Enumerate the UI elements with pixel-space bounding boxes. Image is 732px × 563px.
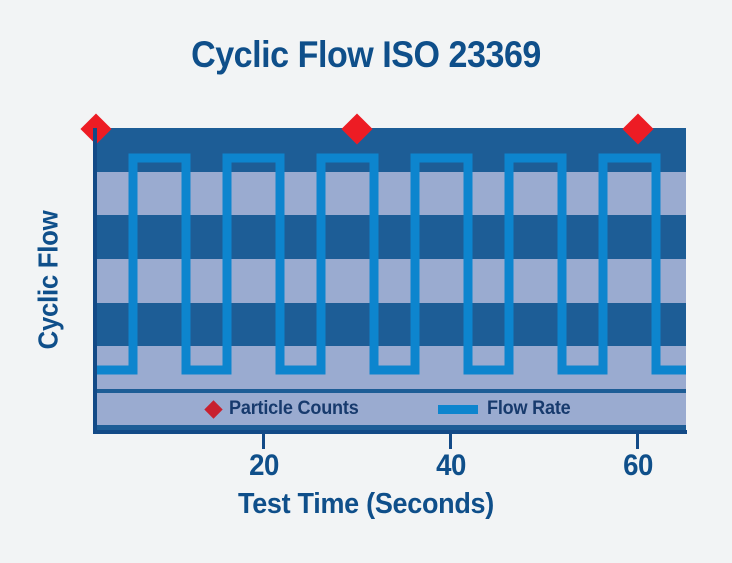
y-axis-label: Cyclic Flow [32,211,64,350]
x-axis-tick-label: 20 [249,449,279,483]
y-axis-line [93,128,97,434]
x-axis-tick-label: 40 [436,449,466,483]
x-axis-tick [262,434,265,449]
x-axis-label: Test Time (Seconds) [26,488,707,521]
x-axis-tick [636,434,639,449]
legend-label-particle-counts: Particle Counts [229,398,359,420]
x-axis-tick-label: 60 [623,449,653,483]
legend-item-flow-rate: Flow Rate [438,398,575,420]
legend-item-particle-counts: Particle Counts [207,398,365,420]
line-swatch-icon [438,405,478,414]
y-axis-label-container: Cyclic Flow [26,128,70,432]
chart-legend: Particle Counts Flow Rate [96,393,686,425]
chart-title: Cyclic Flow ISO 23369 [29,34,702,76]
x-axis-line [93,430,687,434]
flow-rate-series [96,128,686,432]
chart-container: Cyclic Flow ISO 23369 Cyclic Flow Partic… [0,0,732,563]
plot-area: Particle Counts Flow Rate [96,128,686,432]
legend-label-flow-rate: Flow Rate [487,398,571,420]
x-axis-tick [449,434,452,449]
diamond-icon [205,400,223,418]
